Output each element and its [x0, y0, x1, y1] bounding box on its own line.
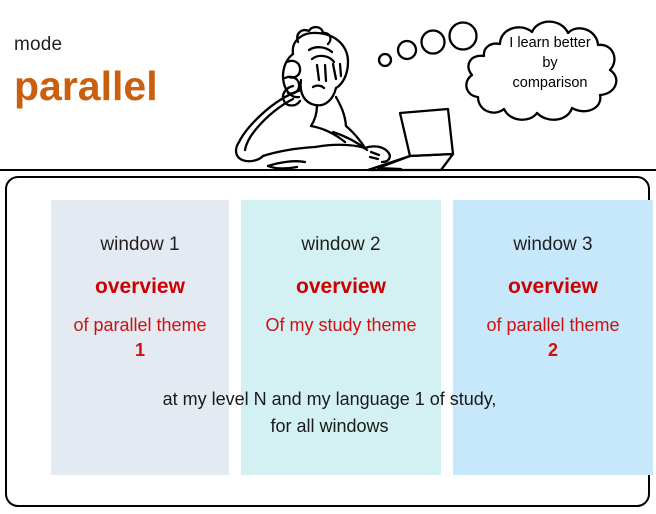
window-panel-3-heading: overview [453, 275, 653, 299]
windows-row: window 1 overview of parallel theme 1 wi… [7, 178, 652, 509]
mode-label: mode [14, 34, 62, 56]
window-panel-1-detail-text: of parallel theme [73, 315, 206, 335]
windows-container: window 1 overview of parallel theme 1 wi… [5, 176, 650, 507]
window-panel-1-emphasis: 1 [51, 338, 229, 363]
window-panel-3-detail: of parallel theme 2 [453, 313, 653, 363]
window-panel-1-detail: of parallel theme 1 [51, 313, 229, 363]
window-panel-2-heading: overview [241, 275, 441, 299]
window-panel-3-emphasis: 2 [453, 338, 653, 363]
window-panel-3-title: window 3 [453, 234, 653, 256]
window-panel-2-detail-text: Of my study [265, 315, 361, 335]
thought-line-1: I learn better [466, 33, 634, 53]
window-panel-3-detail-text: of parallel theme [486, 315, 619, 335]
header-section: mode parallel [0, 0, 656, 171]
header-divider [0, 169, 656, 171]
window-panel-1-heading: overview [51, 275, 229, 299]
window-panel-2-title: window 2 [241, 234, 441, 256]
mode-value: parallel [14, 63, 158, 110]
window-panel-3[interactable]: window 3 overview of parallel theme 2 [453, 200, 653, 475]
thought-line-3: comparison [466, 73, 634, 93]
window-panel-1[interactable]: window 1 overview of parallel theme 1 [51, 200, 229, 475]
thought-line-2: by [466, 53, 634, 73]
thought-cloud-text: I learn better by comparison [466, 33, 634, 93]
window-panel-2-detail: Of my study theme [241, 313, 441, 338]
window-panel-2-emphasis: theme [367, 315, 417, 335]
window-panel-1-title: window 1 [51, 234, 229, 256]
window-panel-2[interactable]: window 2 overview Of my study theme [241, 200, 441, 475]
